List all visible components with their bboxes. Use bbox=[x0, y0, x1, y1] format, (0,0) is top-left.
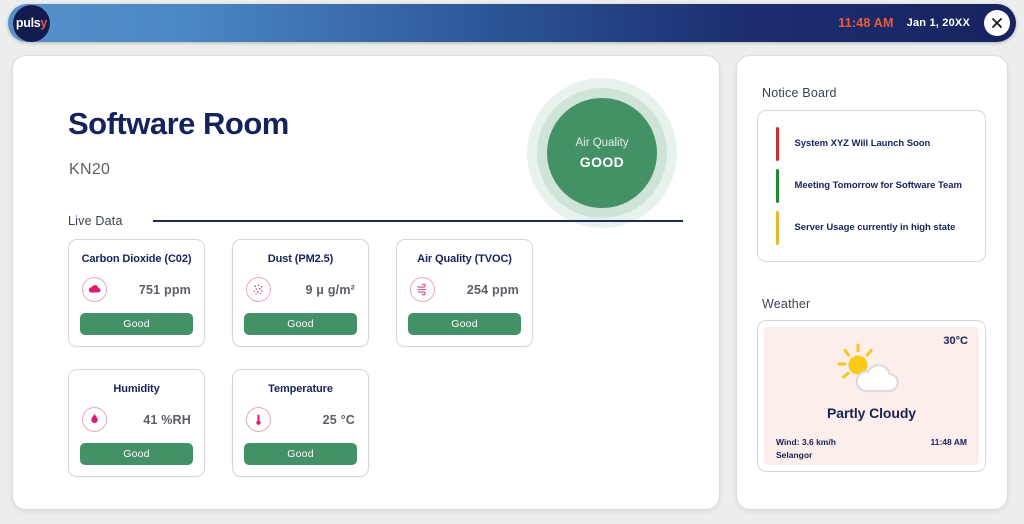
notice-priority-bar bbox=[776, 127, 779, 161]
notice-item[interactable]: Server Usage currently in high state bbox=[768, 211, 975, 245]
sun-behind-cloud-icon bbox=[833, 341, 911, 406]
wind-icon bbox=[410, 277, 435, 302]
header-time: 11:48 AM bbox=[838, 16, 893, 30]
notice-text: Meeting Tomorrow for Software Team bbox=[795, 180, 962, 193]
weather-card: 30°C Partly Cloudy Wind: 3.6 km/h Selang… bbox=[757, 320, 986, 472]
app-header: pulsy 11:48 AM Jan 1, 20XX bbox=[8, 4, 1016, 42]
sensor-card-temperature[interactable]: Temperature 25 °C Good bbox=[232, 369, 369, 477]
weather-location: Selangor bbox=[776, 450, 812, 460]
status-badge[interactable]: Good bbox=[80, 443, 193, 465]
gauge-ring-inner: Air Quality GOOD bbox=[547, 98, 657, 208]
close-icon bbox=[991, 17, 1003, 29]
gauge-label: Air Quality bbox=[575, 137, 628, 149]
close-button[interactable] bbox=[984, 10, 1010, 36]
air-quality-gauge: Air Quality GOOD bbox=[521, 88, 693, 220]
room-code: KN20 bbox=[69, 161, 110, 179]
sensor-title: Humidity bbox=[80, 383, 193, 396]
notice-board-heading: Notice Board bbox=[762, 86, 837, 100]
sensor-card-tvoc[interactable]: Air Quality (TVOC) 254 ppm Good bbox=[396, 239, 533, 347]
weather-temperature: 30°C bbox=[943, 335, 968, 347]
notice-priority-bar bbox=[776, 211, 779, 245]
water-drop-icon bbox=[82, 407, 107, 432]
cloud-icon bbox=[82, 277, 107, 302]
sensor-title: Air Quality (TVOC) bbox=[408, 253, 521, 266]
notice-board-card: System XYZ Will Launch Soon Meeting Tomo… bbox=[757, 110, 986, 262]
weather-condition: Partly Cloudy bbox=[764, 405, 979, 421]
gauge-value: GOOD bbox=[580, 154, 624, 170]
notice-text: System XYZ Will Launch Soon bbox=[795, 138, 931, 151]
sensor-title: Carbon Dioxide (C02) bbox=[80, 253, 193, 266]
weather-time: 11:48 AM bbox=[930, 437, 967, 447]
notice-text: Server Usage currently in high state bbox=[795, 222, 956, 235]
weather-heading: Weather bbox=[762, 297, 810, 311]
sensor-value: 751 ppm bbox=[139, 283, 191, 297]
sensor-value: 9 μ g/m² bbox=[305, 283, 355, 297]
sensor-card-row-1: Carbon Dioxide (C02) 751 ppm Good Dust (… bbox=[68, 239, 688, 347]
notice-item[interactable]: Meeting Tomorrow for Software Team bbox=[768, 169, 975, 203]
status-badge[interactable]: Good bbox=[408, 313, 521, 335]
weather-wind: Wind: 3.6 km/h bbox=[776, 437, 836, 447]
logo-text: pulsy bbox=[16, 16, 47, 30]
weather-card-body: 30°C Partly Cloudy Wind: 3.6 km/h Selang… bbox=[764, 327, 979, 465]
sensor-card-humidity[interactable]: Humidity 41 %RH Good bbox=[68, 369, 205, 477]
status-badge[interactable]: Good bbox=[80, 313, 193, 335]
sensor-reading: 254 ppm bbox=[410, 277, 519, 302]
thermometer-icon bbox=[246, 407, 271, 432]
notice-priority-bar bbox=[776, 169, 779, 203]
live-data-label: Live Data bbox=[68, 214, 123, 228]
page-title: Software Room bbox=[68, 106, 289, 142]
status-badge[interactable]: Good bbox=[244, 443, 357, 465]
header-date: Jan 1, 20XX bbox=[907, 17, 970, 29]
sensor-value: 41 %RH bbox=[143, 413, 191, 427]
live-data-section-header: Live Data bbox=[68, 214, 683, 228]
dust-particles-icon bbox=[246, 277, 271, 302]
sensor-value: 25 °C bbox=[323, 413, 355, 427]
main-dashboard-panel: Software Room KN20 Air Quality GOOD Live… bbox=[12, 55, 720, 510]
sensor-card-dust[interactable]: Dust (PM2.5) 9 μ g bbox=[232, 239, 369, 347]
status-badge[interactable]: Good bbox=[244, 313, 357, 335]
sensor-card-row-2: Humidity 41 %RH Good Temperature bbox=[68, 369, 688, 477]
app-logo[interactable]: pulsy bbox=[13, 5, 50, 42]
section-divider bbox=[153, 220, 683, 222]
sensor-reading: 9 μ g/m² bbox=[246, 277, 355, 302]
sensor-reading: 25 °C bbox=[246, 407, 355, 432]
sensor-card-co2[interactable]: Carbon Dioxide (C02) 751 ppm Good bbox=[68, 239, 205, 347]
sensor-card-grid: Carbon Dioxide (C02) 751 ppm Good Dust (… bbox=[68, 239, 688, 499]
sensor-reading: 41 %RH bbox=[82, 407, 191, 432]
sensor-reading: 751 ppm bbox=[82, 277, 191, 302]
sensor-title: Dust (PM2.5) bbox=[244, 253, 357, 266]
sensor-title: Temperature bbox=[244, 383, 357, 396]
sensor-value: 254 ppm bbox=[467, 283, 519, 297]
notice-item[interactable]: System XYZ Will Launch Soon bbox=[768, 127, 975, 161]
